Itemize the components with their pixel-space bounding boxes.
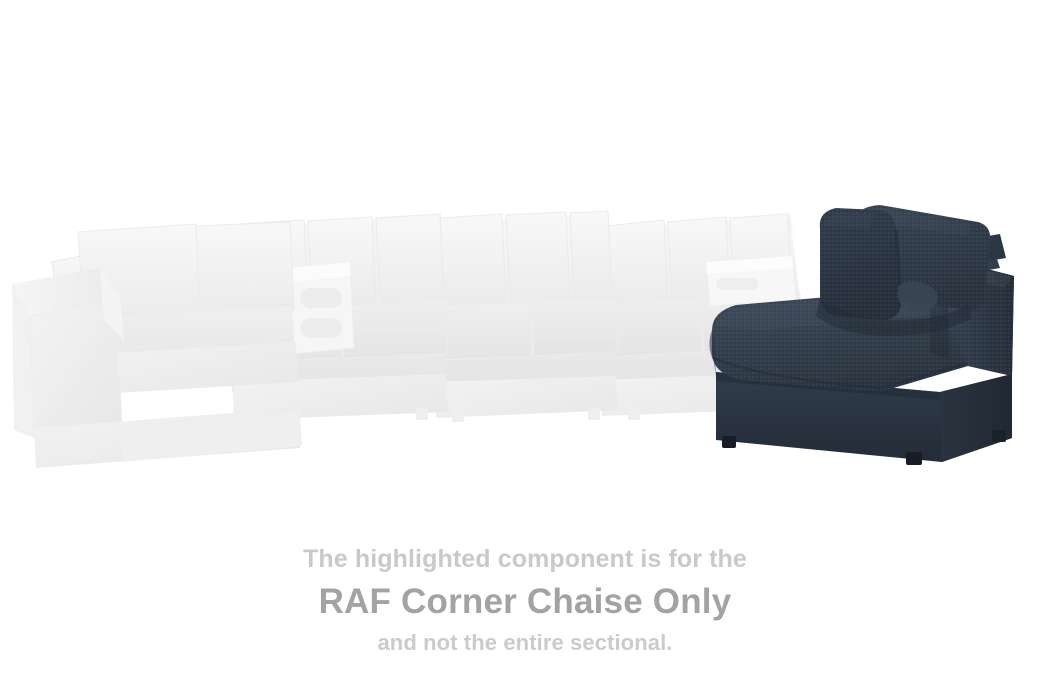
sectional-diagram-svg [0,0,1050,520]
ghost-console-left [288,262,354,354]
product-illustration [0,0,1050,520]
chaise-foot-front-left [722,436,736,448]
caption-line-3: and not the entire sectional. [0,626,1050,660]
caption-line-1: The highlighted component is for the [0,540,1050,578]
ghost-console-right [706,256,796,306]
product-highlight-screenshot: The highlighted component is for the RAF… [0,0,1050,700]
caption-block: The highlighted component is for the RAF… [0,540,1050,660]
chaise-foot-rear-right [992,430,1006,442]
ghost-corner-module [432,211,618,422]
ghost-laf-loveseat [12,222,302,468]
caption-line-2-component-name: RAF Corner Chaise Only [0,578,1050,626]
chaise-foot-front-right [906,452,922,465]
sectional-ghost-outline [12,211,804,468]
